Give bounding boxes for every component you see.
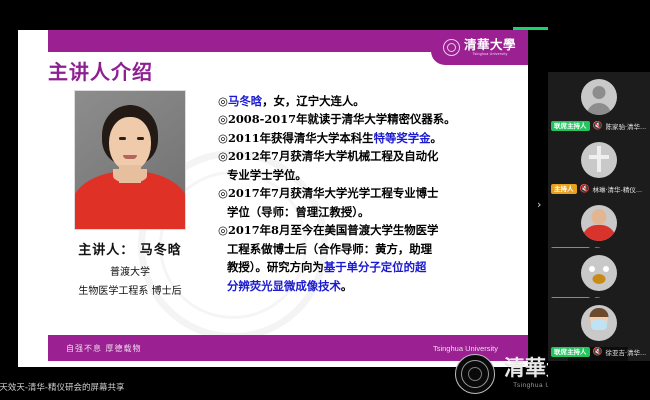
active-speaker-accent-bar — [513, 27, 548, 30]
bio-text: 工程系做博士后（合作导师：黄方，助理 — [227, 242, 432, 256]
slide-logo-en: Tsinghua University — [473, 53, 508, 57]
participant-tile[interactable]: 联席主持人🔇徐亚吉·清华... — [548, 298, 650, 361]
participant-name: 林琳·清华-精仪... — [592, 184, 642, 194]
collapse-panel-chevron-icon[interactable]: › — [537, 198, 541, 211]
bio-text: 。 — [341, 279, 352, 293]
speaker-bio-bullets: ◎马冬晗，女，辽宁大连人。◎2008-2017年就读于清华大学精密仪器系。◎20… — [218, 92, 508, 295]
bio-text: ◎ — [218, 94, 228, 108]
participant-role-badge: 联席主持人 — [551, 121, 590, 131]
mic-muted-icon: 🔇 — [593, 348, 603, 356]
speaker-photo-block: 主讲人： 马冬晗 普渡大学 生物医学工程系 博士后 — [55, 90, 205, 297]
participant-name: 徐亚吉·清华... — [605, 347, 646, 357]
meeting-screen: 清華大學 Tsinghua University 主讲人介绍 — [0, 0, 650, 400]
participant-label-row: 联席主持人🔇徐亚吉·清华... — [551, 347, 647, 357]
slide-logo-wordmark: 清華大學 Tsinghua University — [464, 39, 516, 57]
bio-line: 专业学士学位。 — [218, 166, 508, 184]
bio-text: 专业学士学位。 — [227, 168, 307, 182]
bio-line: ◎2017年7月获清华大学光学工程专业博士 — [218, 184, 508, 202]
bio-line: 工程系做博士后（合作导师：黄方，助理 — [218, 240, 508, 258]
presentation-slide: 清華大學 Tsinghua University 主讲人介绍 — [18, 30, 528, 367]
bio-text: 。 — [431, 131, 442, 145]
bio-highlight: 基于单分子定位的超 — [324, 260, 427, 274]
participant-video-strip[interactable]: 联席主持人🔇陈家骀·清华...主持人🔇林琳·清华-精仪...联席主持人🔇马冬晗联… — [548, 0, 650, 400]
red-shirt-avatar — [581, 205, 617, 241]
slide-footer-motto: 自强不息 厚德载物 — [66, 343, 142, 354]
participant-role-badge: 主持人 — [551, 184, 577, 194]
bio-line: 教授）。研究方向为基于单分子定位的超 — [218, 258, 508, 276]
participant-role-badge: 联席主持人 — [551, 347, 590, 357]
speaker-affiliation: 普渡大学 — [55, 263, 205, 278]
default-person-avatar — [581, 79, 617, 115]
bio-text: ，女，辽宁大连人。 — [262, 94, 365, 108]
speaker-name: 主讲人： 马冬晗 — [55, 239, 205, 258]
bio-text: ◎2017年7月获清华大学光学工程专业博士 — [218, 186, 438, 200]
bio-text: 学位（导师：曾理江教授）。 — [227, 205, 369, 219]
bio-text: 教授）。研究方向为 — [227, 260, 324, 274]
participant-label-row: 主持人🔇林琳·清华-精仪... — [551, 184, 647, 194]
bio-line: ◎2017年8月至今在美国普渡大学生物医学 — [218, 221, 508, 239]
participant-tile[interactable]: 主持人🔇林琳·清华-精仪... — [548, 135, 650, 198]
bio-highlight: 分辨荧光显微成像技术 — [227, 279, 341, 293]
screen-share-caption: (天效天-清华-精仪研会的屏幕共享 — [0, 381, 124, 393]
speaker-caption: 主讲人： 马冬晗 普渡大学 生物医学工程系 博士后 — [55, 239, 205, 297]
bio-text: ◎2017年8月至今在美国普渡大学生物医学 — [218, 223, 438, 237]
bio-text: ◎2012年7月获清华大学机械工程及自动化 — [218, 149, 438, 163]
gray-photo-avatar — [581, 142, 617, 178]
bio-highlight: 马冬晗 — [228, 94, 262, 108]
participant-tile[interactable]: 联席主持人🔇陈家骀·清华... — [548, 72, 650, 135]
bio-line: ◎2008-2017年就读于清华大学精密仪器系。 — [218, 110, 508, 128]
child-mask-avatar — [581, 305, 617, 341]
speaker-portrait-image — [74, 90, 186, 230]
tsinghua-seal-icon — [443, 39, 460, 56]
slide-logo-cn: 清華大學 — [464, 39, 516, 52]
shared-screen-region: 清華大學 Tsinghua University 主讲人介绍 — [0, 0, 534, 400]
emoji-avatar — [581, 255, 617, 291]
participant-name: 陈家骀·清华... — [605, 121, 646, 131]
slide-header-logo: 清華大學 Tsinghua University — [431, 30, 528, 65]
tsinghua-seal-icon — [455, 354, 495, 394]
bio-line: ◎2011年获得清华大学本科生特等奖学金。 — [218, 129, 508, 147]
bio-line: ◎2012年7月获清华大学机械工程及自动化 — [218, 147, 508, 165]
bio-line: 分辨荧光显微成像技术。 — [218, 277, 508, 295]
bio-highlight: 特等奖学金 — [374, 131, 431, 145]
bio-text: ◎2008-2017年就读于清华大学精密仪器系。 — [218, 112, 456, 126]
speaker-department: 生物医学工程系 博士后 — [55, 282, 205, 297]
bio-line: 学位（导师：曾理江教授）。 — [218, 203, 508, 221]
bio-line: ◎马冬晗，女，辽宁大连人。 — [218, 92, 508, 110]
slide-title: 主讲人介绍 — [48, 56, 153, 85]
bio-text: ◎2011年获得清华大学本科生 — [218, 131, 374, 145]
mic-muted-icon: 🔇 — [580, 185, 590, 193]
mic-muted-icon: 🔇 — [593, 122, 603, 130]
participant-label-row: 联席主持人🔇陈家骀·清华... — [551, 121, 647, 131]
